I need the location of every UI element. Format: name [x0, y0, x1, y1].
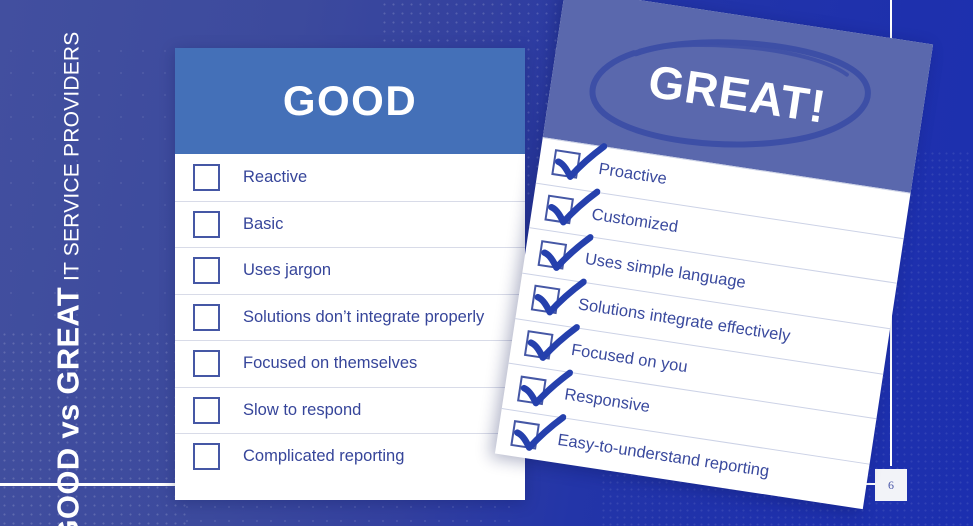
good-checklist-row[interactable]: Basic	[175, 201, 525, 248]
good-column-card: GOOD ReactiveBasicUses jargonSolutions d…	[175, 48, 525, 500]
unchecked-checkbox-icon[interactable]	[193, 304, 220, 331]
page-subtitle: IT SERVICE PROVIDERS	[62, 31, 83, 280]
good-checklist-label: Complicated reporting	[243, 447, 404, 466]
unchecked-checkbox-icon[interactable]	[193, 397, 220, 424]
horizontal-rule-decoration-left	[0, 483, 178, 486]
good-checklist-row[interactable]: Slow to respond	[175, 387, 525, 434]
checked-checkbox-icon[interactable]	[544, 195, 574, 225]
slide-canvas: 6 GOOD vs GREAT IT SERVICE PROVIDERS GOO…	[0, 0, 973, 526]
great-column-card: GREAT! ProactiveCustomizedUses simple la…	[495, 0, 933, 509]
checked-checkbox-icon[interactable]	[538, 240, 568, 270]
great-checklist-label: Responsive	[563, 386, 651, 418]
good-checklist-row[interactable]: Solutions don’t integrate properly	[175, 294, 525, 341]
good-checklist: ReactiveBasicUses jargonSolutions don’t …	[175, 154, 525, 480]
good-checklist-label: Focused on themselves	[243, 354, 417, 373]
unchecked-checkbox-icon[interactable]	[193, 164, 220, 191]
good-checklist-row[interactable]: Uses jargon	[175, 247, 525, 294]
checked-checkbox-icon[interactable]	[524, 330, 554, 360]
unchecked-checkbox-icon[interactable]	[193, 350, 220, 377]
background-dot-texture-bottom-left	[0, 330, 190, 526]
good-checklist-label: Solutions don’t integrate properly	[243, 308, 484, 327]
good-checklist-label: Uses jargon	[243, 261, 331, 280]
good-checklist-label: Slow to respond	[243, 401, 361, 420]
good-card-title: GOOD	[283, 77, 417, 125]
good-checklist-label: Reactive	[243, 168, 307, 187]
page-number-badge: 6	[875, 469, 907, 501]
checked-checkbox-icon[interactable]	[551, 149, 581, 179]
great-card-title: GREAT!	[645, 54, 830, 134]
good-checklist-row[interactable]: Complicated reporting	[175, 433, 525, 480]
great-checklist-label: Focused on you	[570, 340, 689, 376]
unchecked-checkbox-icon[interactable]	[193, 257, 220, 284]
checked-checkbox-icon[interactable]	[510, 421, 540, 451]
unchecked-checkbox-icon[interactable]	[193, 443, 220, 470]
checked-checkbox-icon[interactable]	[531, 285, 561, 315]
checked-checkbox-icon[interactable]	[517, 375, 547, 405]
good-checklist-row[interactable]: Reactive	[175, 154, 525, 201]
page-title: GOOD vs GREAT	[53, 287, 84, 526]
good-checklist-label: Basic	[243, 215, 283, 234]
good-card-header: GOOD	[175, 48, 525, 154]
great-checklist-label: Proactive	[597, 160, 668, 189]
slide-vertical-title: GOOD vs GREAT IT SERVICE PROVIDERS	[53, 108, 84, 468]
great-checklist-label: Customized	[590, 205, 679, 237]
unchecked-checkbox-icon[interactable]	[193, 211, 220, 238]
great-checklist: ProactiveCustomizedUses simple languageS…	[495, 137, 911, 509]
good-checklist-row[interactable]: Focused on themselves	[175, 340, 525, 387]
